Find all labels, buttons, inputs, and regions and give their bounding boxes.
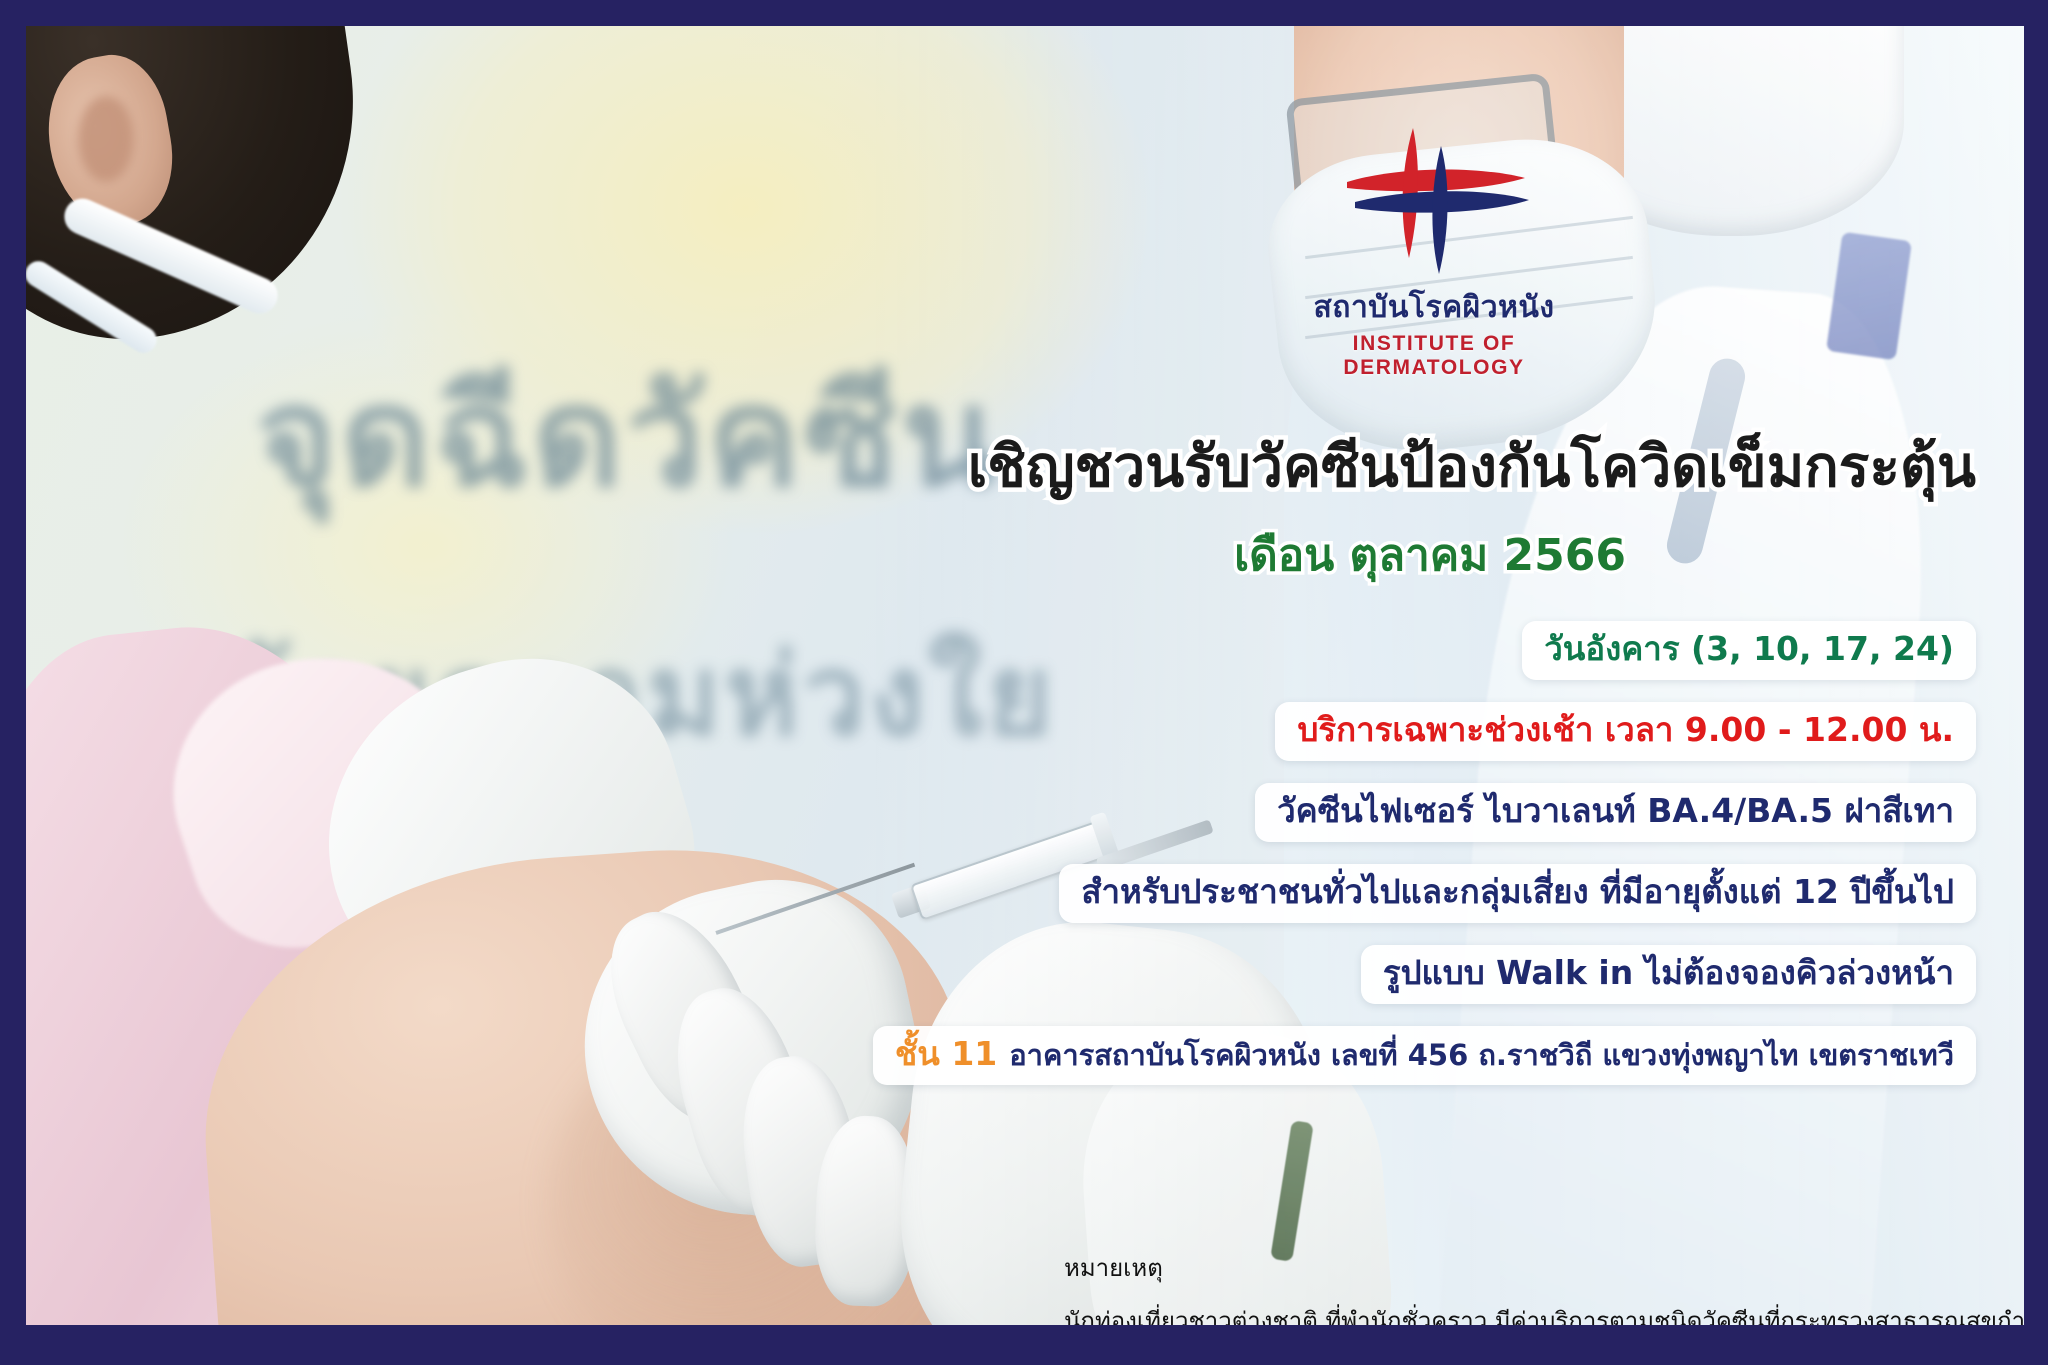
- footnote-block: หมายเหตุ นักท่องเที่ยวชาวต่างชาติ ที่พำน…: [1064, 1248, 2024, 1325]
- poster-subheadline: เดือน ตุลาคม 2566: [1234, 520, 1626, 590]
- info-row-date: วันอังคาร (3, 10, 17, 24): [1522, 621, 1976, 680]
- poster-headline: เชิญชวนรับวัคซีนป้องกันโควิดเข็มกระตุ้น: [968, 422, 1976, 512]
- info-row-vaccine: วัคซีนไฟเซอร์ ไบวาเลนท์ BA.4/BA.5 ฝาสีเท…: [1255, 783, 1976, 842]
- date-stamp: 22 ก.ย. 66: [82, 1320, 250, 1325]
- info-row-hours: บริการเฉพาะช่วงเช้า เวลา 9.00 - 12.00 น.: [1275, 702, 1976, 761]
- poster-root: จุดฉีดวัคซีน ด้วยความห่วงใย: [0, 0, 2048, 1365]
- footnote-label: หมายเหตุ: [1064, 1248, 2024, 1287]
- info-row-list: วันอังคาร (3, 10, 17, 24) บริการเฉพาะช่ว…: [873, 621, 1976, 1085]
- location-floor-label: ชั้น 11: [895, 1034, 997, 1073]
- info-row-eligibility: สำหรับประชาชนทั่วไปและกลุ่มเสี่ยง ที่มีอ…: [1059, 864, 1976, 923]
- poster-frame: จุดฉีดวัคซีน ด้วยความห่วงใย: [26, 26, 2024, 1325]
- poster-content: เชิญชวนรับวัคซีนป้องกันโควิดเข็มกระตุ้น …: [26, 26, 2024, 1325]
- info-row-location: ชั้น 11อาคารสถาบันโรคผิวหนัง เลขที่ 456 …: [873, 1026, 1976, 1085]
- footnote-body: นักท่องเที่ยวชาวต่างชาติ ที่พำนักชั่วครา…: [1064, 1301, 2024, 1325]
- info-row-walkin: รูปแบบ Walk in ไม่ต้องจองคิวล่วงหน้า: [1361, 945, 1976, 1004]
- location-address: อาคารสถาบันโรคผิวหนัง เลขที่ 456 ถ.ราชวิ…: [1009, 1038, 1954, 1072]
